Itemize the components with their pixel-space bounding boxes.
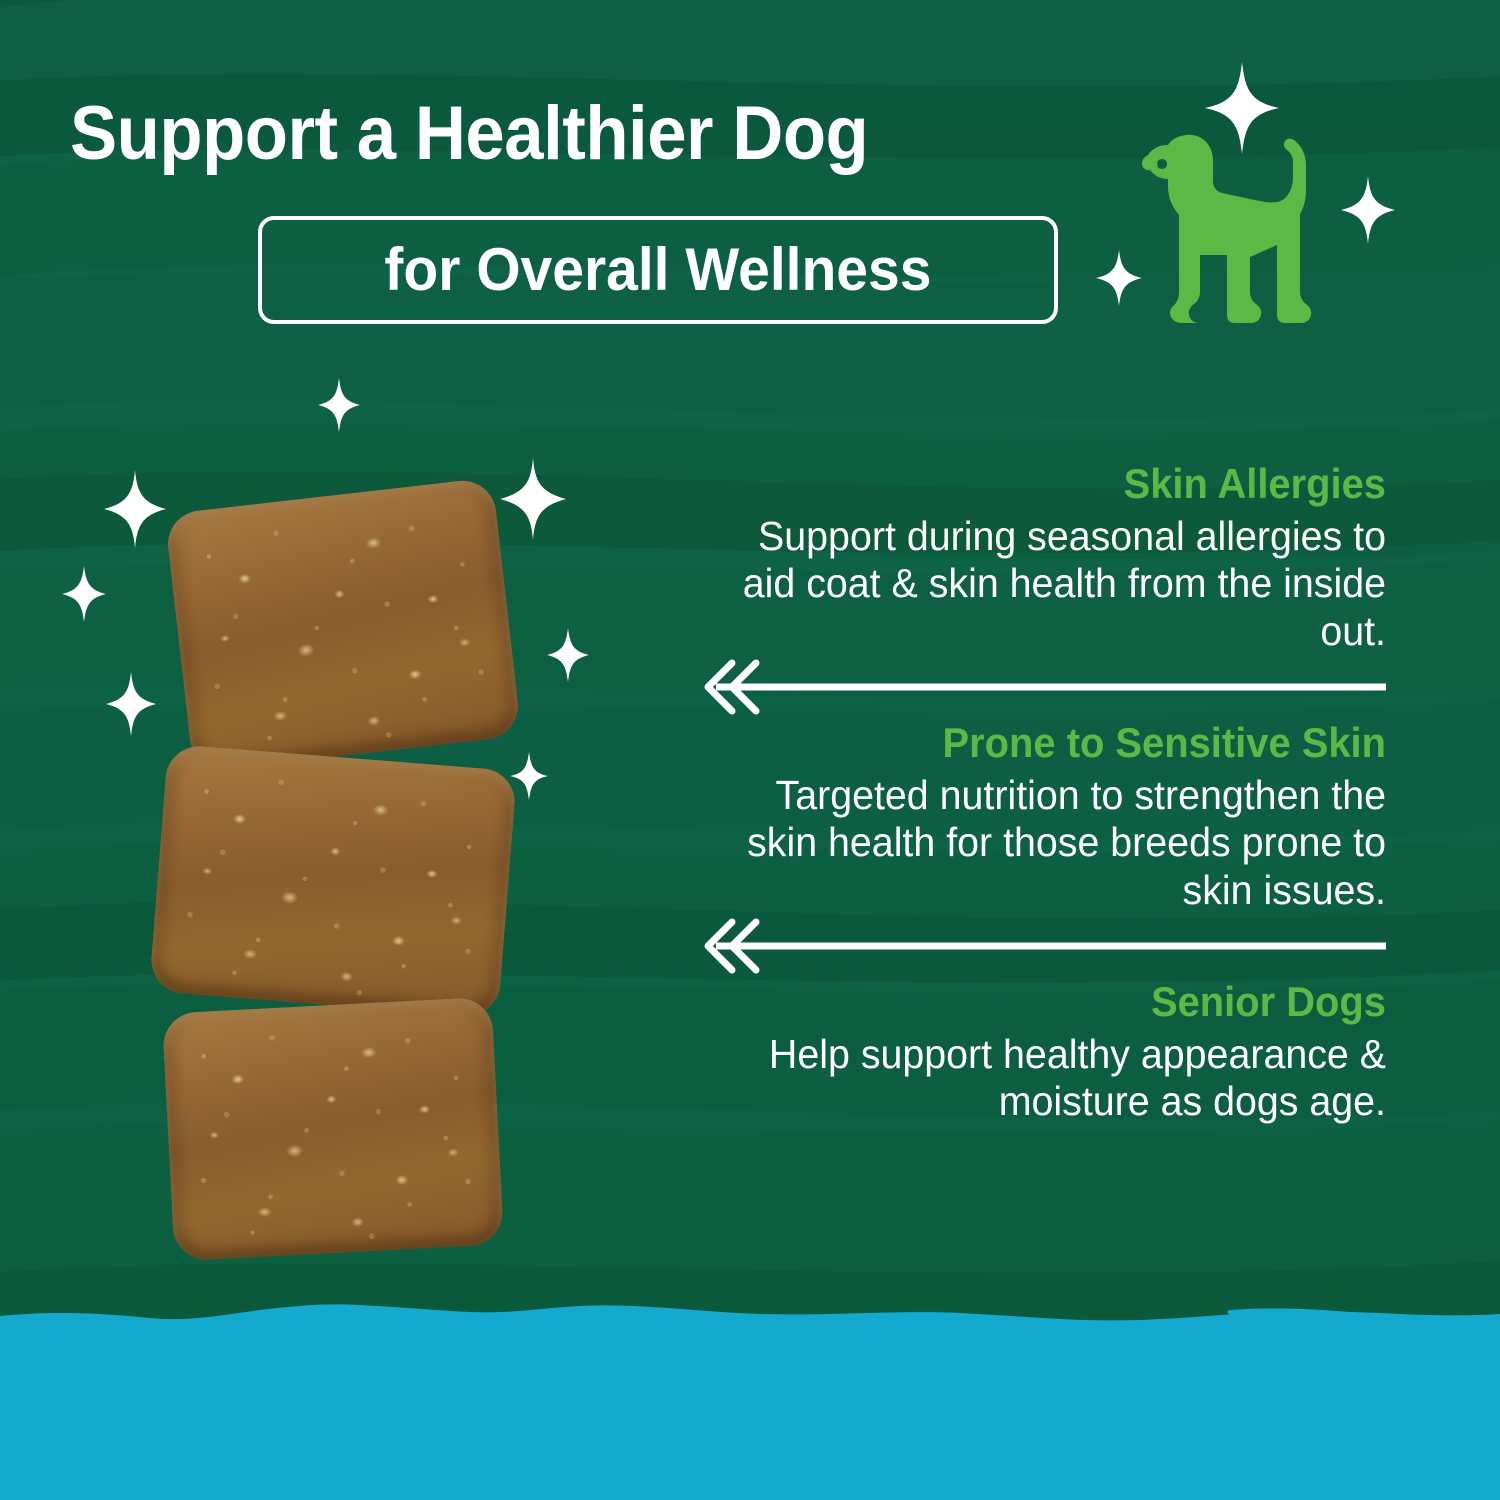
benefit-block-skin-allergies: Skin Allergies Support during seasonal a… [686, 462, 1386, 655]
benefit-body: Targeted nutrition to strengthen the ski… [714, 772, 1386, 915]
double-chevron-left-arrow-icon [686, 655, 1386, 719]
bottom-cyan-band [0, 1280, 1500, 1500]
page-title-line2: for Overall Wellness [384, 240, 931, 300]
page-title-line1: Support a Healthier Dog [70, 96, 1000, 172]
headline-group: Support a Healthier Dog [70, 96, 1070, 172]
kibble-piece [149, 744, 517, 1019]
product-benefits-infographic: Support a Healthier Dog for Overall Well… [0, 0, 1500, 1500]
benefit-body: Support during seasonal allergies to aid… [714, 513, 1386, 656]
divider-arrow-2 [686, 914, 1386, 978]
benefit-heading: Skin Allergies [721, 462, 1386, 507]
kibble-piece [162, 997, 505, 1262]
benefit-heading: Prone to Sensitive Skin [721, 721, 1386, 766]
dog-silhouette-icon [1100, 95, 1390, 345]
benefit-block-senior-dogs: Senior Dogs Help support healthy appeara… [686, 980, 1386, 1126]
divider-arrow-1 [686, 655, 1386, 719]
subtitle-box: for Overall Wellness [258, 216, 1058, 324]
double-chevron-left-arrow-icon [686, 914, 1386, 978]
benefits-list: Skin Allergies Support during seasonal a… [686, 462, 1386, 1126]
benefit-heading: Senior Dogs [721, 980, 1386, 1025]
kibble-piece [164, 477, 521, 773]
kibble-stack [140, 495, 540, 1265]
benefit-body: Help support healthy appearance & moistu… [714, 1031, 1386, 1126]
benefit-block-sensitive-skin: Prone to Sensitive Skin Targeted nutriti… [686, 721, 1386, 914]
